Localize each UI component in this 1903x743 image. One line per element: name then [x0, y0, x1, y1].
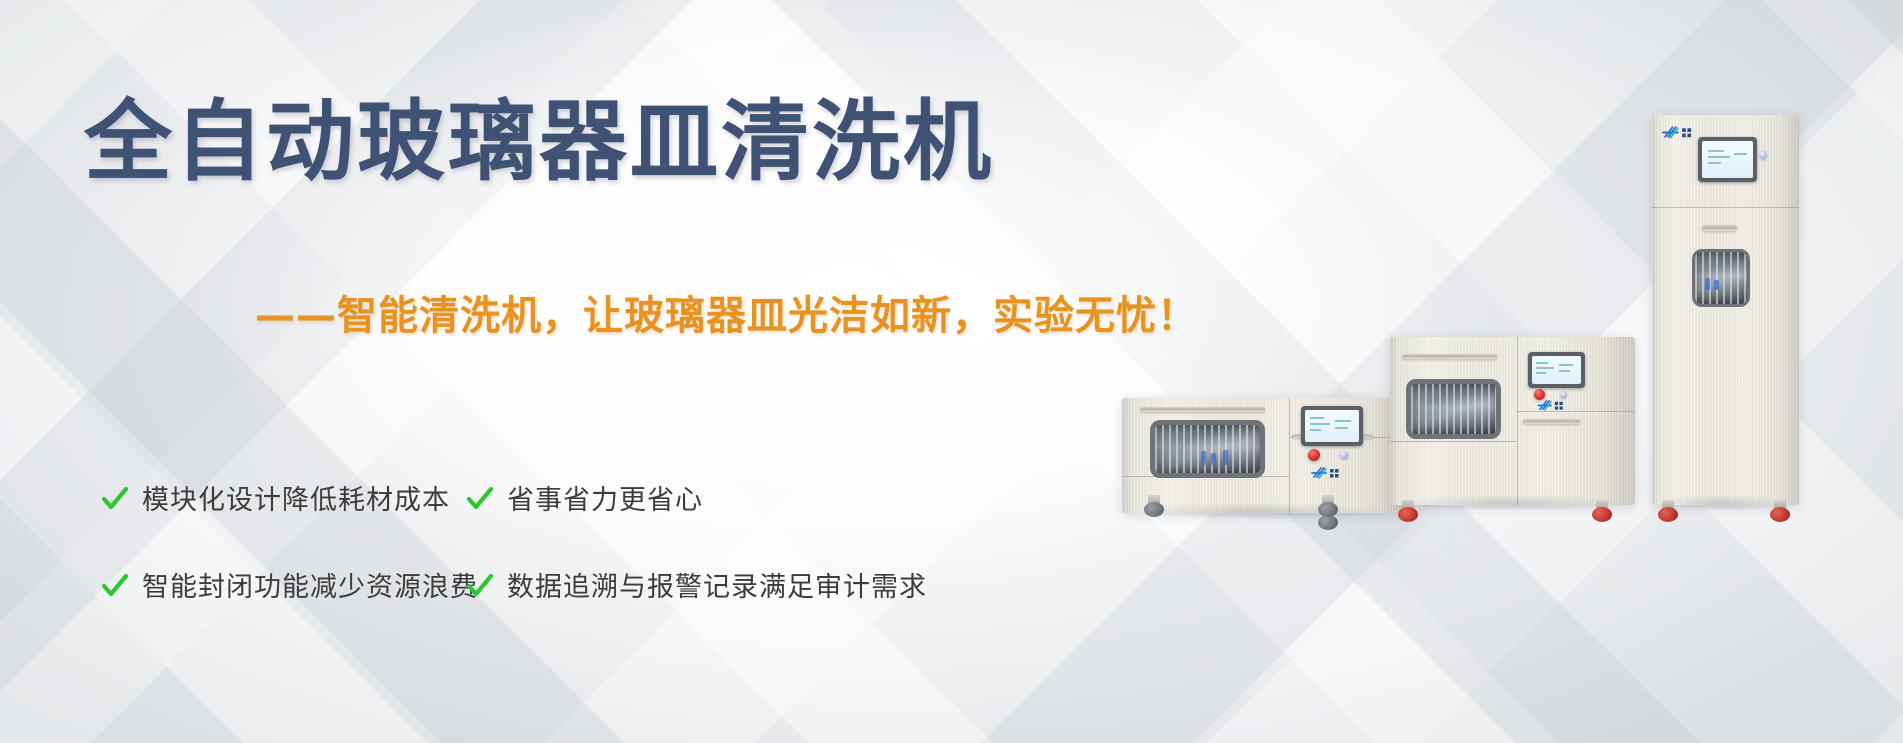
product-image-group: [0, 0, 1903, 743]
touchscreen-display: [1702, 141, 1753, 178]
viewing-window: [1692, 249, 1750, 307]
glass-rack-tip: [1211, 453, 1216, 465]
panel-seam: [1652, 207, 1799, 208]
product-banner: 全自动玻璃器皿清洗机 ——智能清洗机，让玻璃器皿光洁如新，实验无忧！ 模块化设计…: [0, 0, 1903, 743]
viewing-window: [1150, 420, 1265, 478]
brand-logo-mark: [1311, 466, 1345, 480]
product-image-undercounter-washer: [1122, 398, 1405, 513]
indicator-button[interactable]: [1759, 151, 1767, 159]
indicator-button[interactable]: [1560, 391, 1567, 398]
indicator-button[interactable]: [1340, 451, 1348, 459]
caster-wheel: [1592, 500, 1612, 522]
brand-logo-mark: [1537, 399, 1569, 412]
panel-seam: [1517, 337, 1518, 505]
caster-wheel: [1770, 500, 1790, 522]
touchscreen-panel[interactable]: [1698, 137, 1757, 182]
floor-shadow: [1133, 503, 1393, 519]
glass-rack-tip: [1201, 451, 1206, 465]
panel-seam: [1390, 441, 1517, 442]
touchscreen-panel[interactable]: [1301, 406, 1363, 446]
caster-wheel: [1318, 495, 1338, 517]
viewing-window: [1406, 379, 1501, 439]
brand-logo: [1662, 125, 1698, 140]
glassware-load: [1155, 425, 1260, 473]
panel-seam: [1289, 398, 1290, 513]
touchscreen-display: [1305, 410, 1359, 442]
panel-seam: [1517, 411, 1635, 412]
product-image-freestanding-washer: [1390, 337, 1635, 505]
door-handle[interactable]: [1523, 419, 1580, 424]
emergency-stop-button[interactable]: [1308, 449, 1320, 461]
touchscreen-display: [1532, 356, 1581, 384]
glass-rack-tip: [1714, 280, 1719, 290]
touchscreen-panel[interactable]: [1528, 352, 1585, 388]
brand-logo-mark: [1662, 125, 1698, 140]
glassware-load: [1695, 252, 1747, 304]
door-handle[interactable]: [1702, 225, 1737, 231]
caster-wheel: [1658, 500, 1678, 522]
brand-logo: [1537, 399, 1569, 412]
door-handle[interactable]: [1140, 407, 1265, 412]
product-image-tall-column-washer: [1652, 115, 1799, 505]
door-handle[interactable]: [1402, 354, 1497, 359]
caster-wheel: [1144, 495, 1164, 517]
glass-rack-tip: [1705, 278, 1710, 290]
caster-wheel: [1398, 500, 1418, 522]
glass-rack-tip: [1223, 450, 1228, 465]
brand-logo: [1311, 466, 1345, 480]
glassware-load: [1411, 384, 1496, 434]
